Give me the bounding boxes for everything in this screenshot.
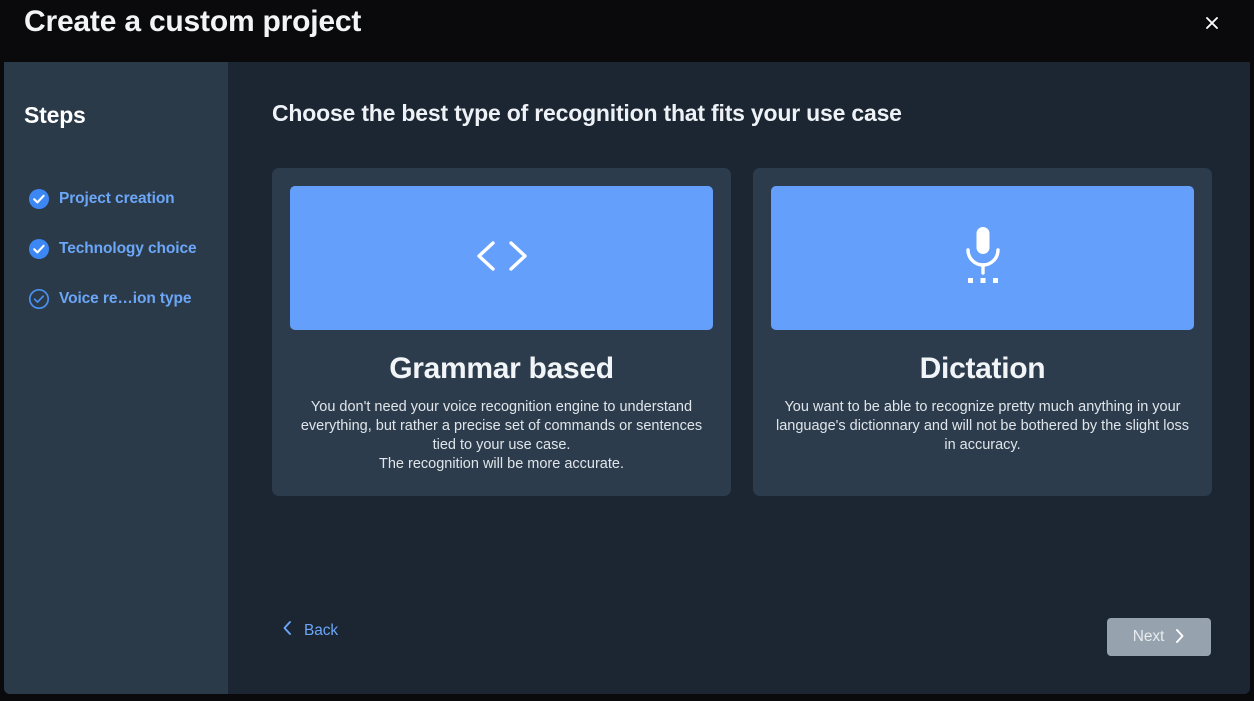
check-circle-filled-icon xyxy=(28,238,50,260)
sidebar-step-label: Voice re…ion type xyxy=(59,290,191,308)
steps-sidebar: Steps Project creation xyxy=(4,62,228,694)
card-title: Dictation xyxy=(771,352,1194,386)
steps-title: Steps xyxy=(24,102,86,129)
chevron-left-icon xyxy=(282,620,293,641)
card-description: You want to be able to recognize pretty … xyxy=(771,398,1194,455)
dialog-body: Steps Project creation xyxy=(4,62,1250,694)
card-illustration xyxy=(290,186,713,330)
code-brackets-icon xyxy=(469,234,535,283)
page-heading: Choose the best type of recognition that… xyxy=(272,100,902,127)
option-card-dictation[interactable]: Dictation You want to be able to recogni… xyxy=(753,168,1212,496)
microphone-icon xyxy=(955,223,1011,294)
card-description: You don't need your voice recognition en… xyxy=(290,398,713,474)
back-button[interactable]: Back xyxy=(282,620,338,641)
sidebar-step-label: Technology choice xyxy=(59,240,197,258)
recognition-type-options: Grammar based You don't need your voice … xyxy=(272,168,1212,496)
close-button[interactable] xyxy=(1197,8,1227,38)
next-button-label: Next xyxy=(1133,628,1164,646)
steps-list: Project creation Technology choice xyxy=(4,174,228,324)
sidebar-step-label: Project creation xyxy=(59,190,175,208)
option-card-grammar-based[interactable]: Grammar based You don't need your voice … xyxy=(272,168,731,496)
sidebar-step-technology-choice[interactable]: Technology choice xyxy=(4,224,228,274)
check-circle-outline-icon xyxy=(28,288,50,310)
check-circle-filled-icon xyxy=(28,188,50,210)
main-content: Choose the best type of recognition that… xyxy=(228,62,1250,694)
next-button[interactable]: Next xyxy=(1107,618,1211,656)
card-title: Grammar based xyxy=(290,352,713,386)
sidebar-step-voice-recognition-type[interactable]: Voice re…ion type xyxy=(4,274,228,324)
dialog-titlebar: Create a custom project xyxy=(0,0,1254,62)
close-icon xyxy=(1203,14,1221,32)
card-illustration xyxy=(771,186,1194,330)
chevron-right-icon xyxy=(1174,628,1185,647)
back-button-label: Back xyxy=(304,622,338,640)
sidebar-step-project-creation[interactable]: Project creation xyxy=(4,174,228,224)
dialog-title: Create a custom project xyxy=(24,2,361,42)
